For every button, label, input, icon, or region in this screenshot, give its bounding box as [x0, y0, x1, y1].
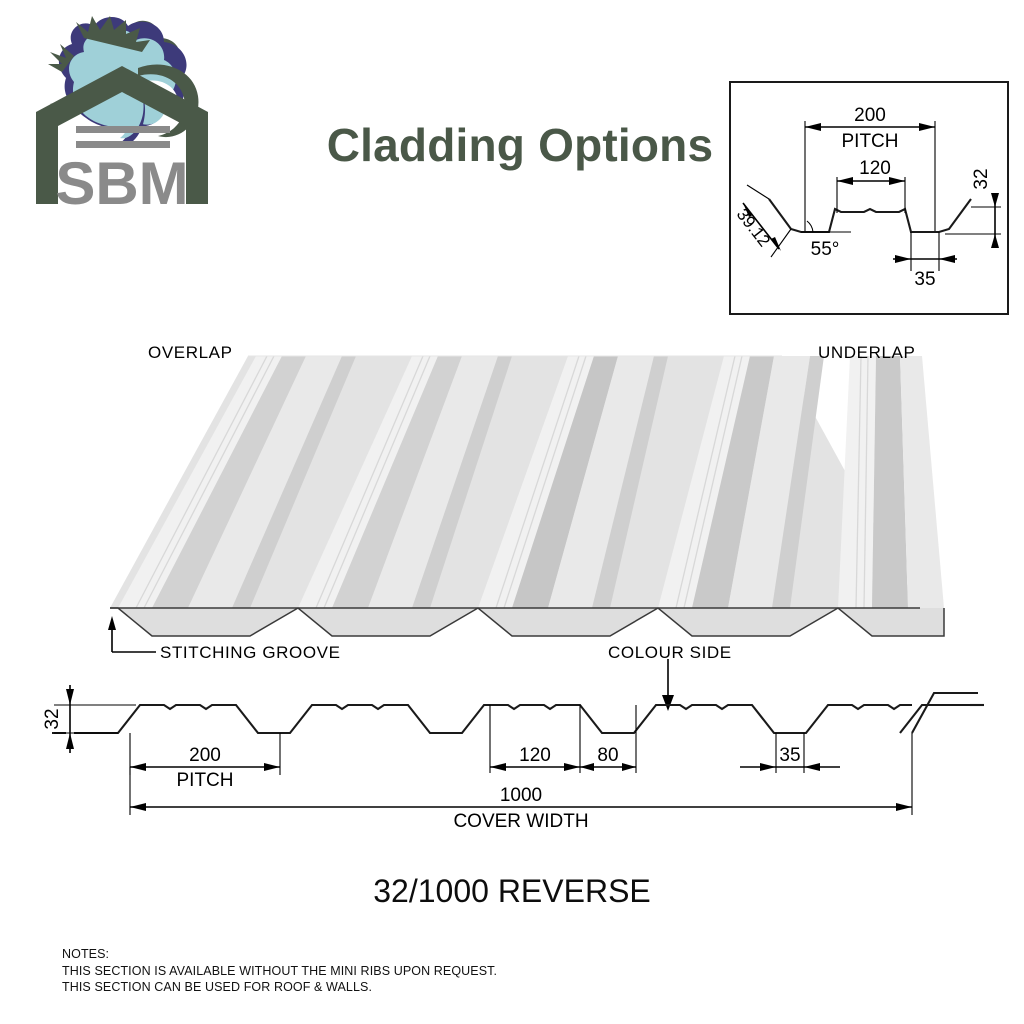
notes-block: NOTES: THIS SECTION IS AVAILABLE WITHOUT…	[62, 946, 762, 996]
notes-heading: NOTES:	[62, 946, 762, 963]
notes-line-2: THIS SECTION CAN BE USED FOR ROOF & WALL…	[62, 979, 762, 996]
dim-height: 32	[42, 685, 136, 753]
page-title: Cladding Options	[300, 118, 740, 172]
dim-cover-label: COVER WIDTH	[453, 811, 588, 832]
dim-height-value: 32	[971, 168, 992, 189]
overlap-label: OVERLAP	[148, 343, 233, 362]
dim-height-value: 32	[42, 708, 63, 729]
dim-pitch: 200 PITCH	[130, 733, 280, 791]
dim-valley: 35	[740, 733, 840, 773]
profile-detail-box: 200 PITCH 120 32 35 55°	[729, 81, 1009, 315]
colour-side-arrow	[662, 659, 674, 711]
dim-crown-value: 120	[519, 745, 551, 766]
cross-section-view: 32 200 PITCH 120 80 35	[40, 655, 984, 855]
dim-pitch-value: 200	[854, 105, 886, 126]
sbm-logo: SBM	[18, 8, 228, 213]
dim-valley-value: 35	[779, 745, 800, 766]
dim-valley-value: 35	[914, 269, 935, 290]
dim-pitch-label: PITCH	[177, 770, 234, 791]
profile-shape	[52, 693, 984, 733]
product-title: 32/1000 REVERSE	[0, 873, 1024, 910]
dim-crown-value: 120	[859, 158, 891, 179]
dim-crown: 120	[490, 705, 580, 773]
dim-valley-flat-value: 80	[597, 745, 618, 766]
underlap-label: UNDERLAP	[818, 343, 915, 362]
notes-line-1: THIS SECTION IS AVAILABLE WITHOUT THE MI…	[62, 963, 762, 980]
dim-cover-value: 1000	[500, 785, 542, 806]
isometric-sheet-view: OVERLAP UNDERLAP STITCHING GROOVE COLOUR…	[60, 330, 970, 660]
dim-pitch-label: PITCH	[842, 131, 899, 152]
dim-pitch-value: 200	[189, 745, 221, 766]
logo-wordmark: SBM	[55, 150, 188, 213]
sheet-body	[110, 356, 944, 636]
dim-angle-value: 55°	[811, 239, 840, 260]
